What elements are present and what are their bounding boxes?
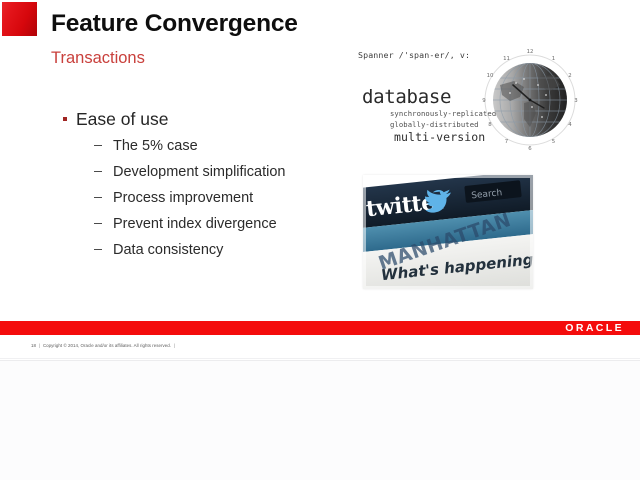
presentation-slide: Feature Convergence Transactions Ease of… <box>0 0 640 360</box>
list-item-label: Data consistency <box>113 242 223 258</box>
svg-text:1: 1 <box>552 56 555 62</box>
svg-text:5: 5 <box>552 139 555 145</box>
spanner-definition-figure: Spanner /'span-er/, v: database synchron… <box>358 44 580 156</box>
globe-clock-icon: 12 1 2 3 4 5 6 7 8 9 10 11 <box>480 45 578 153</box>
viewer-background <box>0 360 640 480</box>
dash-bullet-icon <box>94 171 102 172</box>
svg-text:2: 2 <box>568 73 571 79</box>
spanner-descriptor: globally-distributed <box>390 120 479 129</box>
list-item: Prevent index divergence <box>94 216 352 233</box>
oracle-red-square-logo-icon <box>2 2 37 36</box>
bullet-level1: Ease of use <box>62 109 352 129</box>
slide-subtitle: Transactions <box>51 49 145 68</box>
list-item-label: Prevent index divergence <box>113 216 277 232</box>
svg-text:12: 12 <box>527 49 534 55</box>
list-item: The 5% case <box>94 138 352 155</box>
dash-bullet-icon <box>94 249 102 250</box>
spanner-headword: database <box>362 86 451 108</box>
square-bullet-icon <box>63 117 67 121</box>
copyright-text: Copyright © 2014, Oracle and/or its affi… <box>43 343 171 348</box>
list-item: Data consistency <box>94 242 352 259</box>
list-item-label: Process improvement <box>113 190 253 206</box>
list-item: Development simplification <box>94 164 352 181</box>
bullet-level1-label: Ease of use <box>76 109 168 129</box>
bullet-list: Ease of use The 5% case Development simp… <box>62 109 352 268</box>
dash-bullet-icon <box>94 145 102 146</box>
list-item-label: Development simplification <box>113 164 285 180</box>
list-item-label: The 5% case <box>113 138 198 154</box>
dash-bullet-icon <box>94 197 102 198</box>
slide-number: 18 <box>31 343 36 348</box>
svg-text:4: 4 <box>568 122 572 128</box>
footer-accent-bar <box>0 321 640 335</box>
svg-text:10: 10 <box>487 73 494 79</box>
dash-bullet-icon <box>94 223 102 224</box>
svg-text:11: 11 <box>503 56 510 62</box>
list-item: Process improvement <box>94 190 352 207</box>
svg-text:3: 3 <box>574 98 577 104</box>
bullet-sublist: The 5% case Development simplification P… <box>94 138 352 259</box>
page-title: Feature Convergence <box>51 10 298 38</box>
footer-copyright: 18 | Copyright © 2014, Oracle and/or its… <box>31 343 177 348</box>
svg-text:8: 8 <box>488 122 492 128</box>
svg-text:6: 6 <box>528 146 532 152</box>
svg-text:9: 9 <box>482 98 486 104</box>
spanner-pronunciation: Spanner /'span-er/, v: <box>358 50 470 60</box>
footer-separator: | <box>37 343 41 348</box>
twitter-screenshot-photo: Search twitter What's happening? MANHATT… <box>363 175 533 289</box>
footer-trailing-separator: | <box>172 343 176 348</box>
svg-text:7: 7 <box>505 139 508 145</box>
oracle-wordmark-logo: ORACLE <box>565 322 624 334</box>
slide-bottom-divider <box>0 358 640 359</box>
spanner-descriptor: multi-version <box>394 130 485 144</box>
